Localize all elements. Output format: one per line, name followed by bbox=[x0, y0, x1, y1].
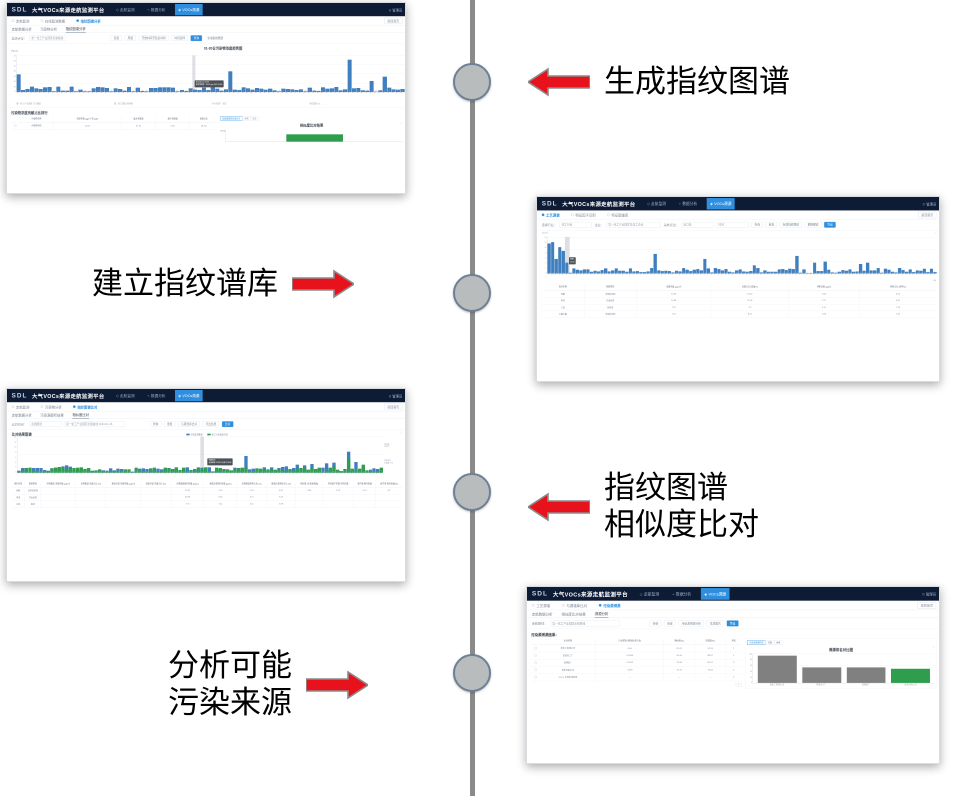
ranking-bar-0 bbox=[758, 656, 797, 683]
cell-0-0: 某化工有限公司 bbox=[540, 645, 596, 652]
tab-0[interactable]: 走航数据分析 bbox=[12, 27, 32, 33]
cell-4-3: — bbox=[695, 674, 726, 681]
tab-1[interactable]: 污染物分析 bbox=[40, 27, 57, 33]
components-plot: 丙酮 12.63 bbox=[547, 237, 936, 274]
cell-1-5: 6.02 bbox=[860, 297, 937, 304]
timeseries-plot: 2024-01-16 14:25 苯系物浓度：63.25 ppb 占比 18.4… bbox=[16, 55, 406, 92]
cell-0-4: 5.03 bbox=[789, 291, 860, 298]
filter-toolbar: 监测点位： 第一化工产业园区走航路线 日报 周报 开始时间至结束时间 时间选择 … bbox=[7, 33, 406, 44]
cell-0-3: 92.53 bbox=[695, 645, 726, 652]
extra-label bbox=[741, 621, 747, 626]
nav-icon: ◇ bbox=[116, 7, 119, 11]
ranking-x-tick-0: 某化工有限公司 bbox=[757, 683, 796, 686]
y-axis-unit: 占比(%) bbox=[542, 232, 548, 234]
nav-item-0[interactable]: ◇走航监测 bbox=[636, 588, 662, 600]
route-input[interactable]: 第一化工产业园区走航路线 bbox=[550, 620, 620, 626]
subnav-item-0[interactable]: 工艺源谱 bbox=[542, 212, 560, 217]
cell-2-11 bbox=[323, 501, 354, 508]
company-select[interactable]: 第一化工产业园区某化工企业 bbox=[606, 222, 661, 228]
ranking-plot bbox=[753, 653, 935, 683]
compare-time-label: 比对时间： bbox=[12, 422, 27, 426]
timeline-node-3 bbox=[453, 473, 491, 511]
daily-report-button[interactable]: 日报 bbox=[111, 35, 122, 41]
arrow-left-icon bbox=[528, 67, 590, 97]
cell-0-1: 12.63 bbox=[53, 122, 121, 129]
cell-2-8: 4.11 bbox=[237, 501, 266, 508]
main-nav: ◇走航监测 ⌁数据分析 ◈VOCs溯源 bbox=[644, 198, 735, 209]
query-button[interactable]: 查询 bbox=[191, 35, 202, 41]
pagination[interactable]: 1 bbox=[736, 683, 742, 686]
screenshot-card-4[interactable]: SDL 大气VOCs来源走航监测平台 ◇走航监测 ⌁数据分析 ◈VOCs溯源 ⊙… bbox=[526, 586, 940, 764]
cell-4-1: — bbox=[596, 674, 664, 681]
table-row[interactable]: 某某印刷公司0.91870.7476.344 bbox=[531, 666, 741, 673]
cell-3-1: 含氧有机物 bbox=[584, 311, 636, 318]
spectrum-select[interactable]: 走航图谱 bbox=[29, 421, 61, 427]
chart-legend: 走航监测图谱 化工行业源成分谱 bbox=[12, 433, 403, 436]
cell-1-2: 10.08 bbox=[636, 297, 711, 304]
chart-tooltip: 丙酮组分 走航图谱 12.63% 源谱 11.80% bbox=[207, 458, 232, 465]
nav-icon: ⌁ bbox=[672, 592, 674, 596]
cell-2-0: 乙烷 bbox=[12, 501, 25, 508]
x-tick-87: 组分88 bbox=[400, 89, 406, 95]
generate-fingerprint-button[interactable]: 生成指纹图谱 bbox=[205, 36, 226, 41]
cell-0-10: 0.96 bbox=[296, 487, 323, 494]
cell-1-5 bbox=[141, 494, 171, 501]
table-row[interactable]: 丙酮类物质12.6347.100.4518.4% bbox=[11, 122, 218, 129]
cell-0-1: 含氧有机物 bbox=[584, 291, 636, 298]
cell-2-13 bbox=[376, 501, 402, 508]
tab-bar: 走航数据分析 相似度比对结果 溯源分析 bbox=[527, 610, 940, 618]
main-nav: ◇走航监测 ⌁数据分析 ◈VOCs溯源 bbox=[113, 4, 203, 15]
export-button[interactable]: 导出 bbox=[824, 222, 835, 228]
back-home-button[interactable]: 返回首页 bbox=[384, 403, 402, 409]
chart-segmented-control[interactable]: 污染源溯源排名 柱图 表格 bbox=[747, 640, 935, 644]
sdl-logo: SDL bbox=[12, 6, 28, 13]
filter-toolbar: 比对时间： 走航图谱 第一化工产业园区走航路线 2024-01-16 查询 重置… bbox=[7, 419, 406, 430]
match-note: 特征因子 匹配度 87% bbox=[384, 459, 393, 464]
cell-3-3: 8.41 bbox=[711, 311, 788, 318]
expand-icon[interactable]: ⤢ bbox=[400, 122, 402, 125]
radio-icon bbox=[599, 604, 602, 607]
subnav-item-1[interactable]: 在线监测数据 bbox=[41, 18, 65, 23]
cell-0-2 bbox=[41, 487, 76, 494]
generate-report-button[interactable]: 生成报告 bbox=[707, 620, 724, 626]
cell-0-1: 含氧有机物 bbox=[25, 487, 41, 494]
cell-1-10 bbox=[296, 494, 323, 501]
cell-4-4: 5 bbox=[726, 674, 742, 681]
app-title: 大气VOCs来源走航监测平台 bbox=[32, 392, 105, 400]
cell-0-6: 12.63 bbox=[171, 487, 204, 494]
cell-0-2: 47.10 bbox=[121, 122, 155, 129]
radio-icon bbox=[76, 19, 79, 22]
cell-0-9: 4.87 bbox=[266, 487, 295, 494]
footer-label-3: 物流园区 S1 bbox=[310, 102, 406, 105]
industry-select[interactable]: 化工行业 bbox=[560, 222, 592, 228]
footer-label-2: 污水处理厂 北区 bbox=[212, 102, 308, 105]
nav-label: 走航监测 bbox=[120, 7, 135, 12]
tab-1[interactable]: 相似度比对结果 bbox=[562, 611, 586, 617]
row-select-checkbox[interactable] bbox=[531, 674, 540, 681]
cell-3-1: 0.918 bbox=[596, 666, 664, 673]
tab-0[interactable]: 走航数据分析 bbox=[532, 611, 553, 617]
radio-icon bbox=[562, 604, 565, 607]
tab-0[interactable]: 走航数据分析 bbox=[12, 413, 32, 419]
sample-point-select[interactable]: 出口处 bbox=[681, 222, 713, 228]
nav-item-2[interactable]: ◈VOCs溯源 bbox=[701, 588, 730, 600]
filter-toolbar: 走航路线： 第一化工产业园区走航路线 查询 重置 污染源溯源分析 生成报告 导出 bbox=[527, 618, 940, 629]
nav-item-2[interactable]: ◈VOCs溯源 bbox=[707, 198, 735, 209]
sdl-logo: SDL bbox=[12, 392, 28, 399]
expand-icon[interactable]: ⤢ bbox=[934, 232, 936, 235]
timeline-node-1 bbox=[453, 63, 491, 101]
cell-1-1: 芳香烃类 bbox=[25, 494, 41, 501]
timeline-node-4 bbox=[453, 654, 491, 692]
cell-3-5: 3.42 bbox=[860, 311, 937, 318]
nav-icon: ◈ bbox=[178, 393, 181, 397]
tab-1[interactable]: 污染源解析结果 bbox=[40, 413, 63, 419]
screenshot-card-1[interactable]: SDL 大气VOCs来源走航监测平台 ◇走航监测 ⌁数据分析 ◈VOCs溯源 ⊙… bbox=[6, 2, 406, 194]
table-row[interactable]: 甲苯芳香烃类10.0811.183.716.02 bbox=[542, 297, 937, 304]
sub-nav-bar: 工艺源谱 特征因子识别 特征图谱库 返回首页 bbox=[537, 210, 940, 219]
cell-4-0: VOCs 无组织排放源 bbox=[540, 674, 596, 681]
table-row[interactable]: 某橡胶厂0.916575.6880.973 bbox=[531, 659, 741, 666]
time-picker-button[interactable]: 时间选择 bbox=[171, 35, 188, 41]
arrow-left-icon bbox=[528, 492, 590, 522]
cell-1-9: 3.55 bbox=[266, 494, 295, 501]
cell-0-4 bbox=[106, 487, 141, 494]
seg-0[interactable]: 指纹图谱相似度比对 bbox=[220, 116, 242, 120]
annotation-analyze-source: 分析可能 污染来源 bbox=[168, 648, 368, 721]
nav-icon: ◈ bbox=[710, 202, 713, 206]
screenshot-card-3[interactable]: SDL 大气VOCs来源走航监测平台 ◇走航监测 ⌁数据分析 ◈VOCs溯源 ⊙… bbox=[6, 388, 406, 582]
subnav-item-2[interactable]: 特征图谱库 bbox=[607, 212, 628, 217]
weekly-report-button[interactable]: 周报 bbox=[125, 35, 136, 41]
cell-1-7: 9.46 bbox=[204, 494, 237, 501]
subnav-item-1[interactable]: 与源谱库比对 bbox=[562, 603, 587, 608]
cell-2-3: 80.97 bbox=[695, 659, 726, 666]
cell-3-2: 7.03 bbox=[636, 311, 711, 318]
cell-0-8: 5.03 bbox=[237, 487, 266, 494]
seg-2[interactable]: 历史 bbox=[250, 116, 258, 120]
cell-2-3: 7.9 bbox=[711, 304, 788, 311]
footer-label-1: 第二化工园区 西环路 bbox=[114, 102, 210, 105]
sample-point-label: 采样点位： bbox=[664, 223, 679, 227]
export-button[interactable]: 导出 bbox=[727, 620, 739, 626]
cell-2-1: 烷烃类 bbox=[584, 304, 636, 311]
export-result-button[interactable]: 导出结果 bbox=[203, 421, 220, 427]
table-row[interactable]: 乙烷烷烃类7.727.94.117.14 bbox=[542, 304, 937, 311]
date-range-button[interactable]: 开始时间至结束时间 bbox=[139, 35, 169, 41]
user-menu[interactable]: ⊙ 管理员 bbox=[922, 591, 936, 596]
filter-toolbar: 选择行业： 化工行业 企业： 第一化工产业园区某化工企业 采样点位： 出口处 时… bbox=[537, 220, 940, 231]
cell-2-5: 7.14 bbox=[860, 304, 937, 311]
cell-2-9: 3.98 bbox=[266, 501, 295, 508]
cell-0-3: 0.45 bbox=[156, 122, 190, 129]
cell-1-0: 甲苯 bbox=[12, 494, 25, 501]
subnav-item-1[interactable]: 污染物分析 bbox=[41, 404, 62, 409]
subnav-item-0[interactable]: 走航监测 bbox=[12, 18, 30, 23]
cell-0-3 bbox=[76, 487, 106, 494]
nav-icon: ◈ bbox=[178, 7, 181, 11]
ranking-table-panel: 污染物浓度贡献占比排行 污染物名称浓度均值 (μg/m³ 或 ppb)最大浓度值… bbox=[7, 107, 406, 145]
table-row[interactable]: 丙酮含氧有机物12.6313.425.038.15 bbox=[542, 291, 937, 298]
user-menu[interactable]: ⊙ 管理员 bbox=[922, 201, 936, 206]
components-table: 组分名称物质类别浓度均值 (μg/m³)浓度占比 (质量%)体积浓度 (ppbv… bbox=[542, 285, 937, 318]
time-select[interactable]: 时间 bbox=[716, 222, 748, 228]
nav-icon: ◇ bbox=[647, 202, 650, 206]
query-button[interactable]: 查询 bbox=[150, 421, 161, 427]
cell-0-2: 87.41 bbox=[664, 645, 695, 652]
similarity-note: 相似度 0.8621 bbox=[384, 443, 389, 447]
app-header-bar: SDL 大气VOCs来源走航监测平台 ◇走航监测 ⌁数据分析 ◈VOCs溯源 ⊙… bbox=[527, 587, 940, 601]
tab-bar: 走航数据分析 污染物分析 指纹图谱分析 bbox=[7, 25, 406, 33]
cell-3-2: 70.74 bbox=[664, 666, 695, 673]
table-row[interactable]: 甲苯芳香烃类10.089.463.713.55 bbox=[12, 494, 403, 501]
cell-1-1: 芳香烃类 bbox=[584, 297, 636, 304]
main-chart-panel: 01-30日污染物浓度趋势图 浓度(ppb) ⤢ 70 60 50 40 30 … bbox=[11, 46, 406, 105]
table-row[interactable]: 某化工有限公司0.9687.4192.531 bbox=[531, 645, 741, 652]
add-fingerprint-button[interactable]: 新增指纹图谱 bbox=[780, 222, 802, 228]
tab-2[interactable]: 指纹图谱分析 bbox=[66, 26, 86, 33]
nav-item-0[interactable]: ◇走航监测 bbox=[113, 4, 138, 15]
cell-0-7: 11.8 bbox=[204, 487, 237, 494]
cell-0-5 bbox=[141, 487, 171, 494]
cell-0-0: 丙酮 bbox=[12, 487, 25, 494]
chart-tooltip: 丙酮 12.63 bbox=[569, 257, 576, 264]
table-row[interactable]: 乙烷烷烃7.727.114.113.98 bbox=[12, 501, 403, 508]
compare-chart-panel: 比对结果图谱 ⤢ 走航监测图谱 化工行业源成分谱 14 12 10 8 6 4 … bbox=[7, 430, 406, 482]
screenshot-card-2[interactable]: SDL 大气VOCs来源走航监测平台 ◇走航监测 ⌁数据分析 ◈VOCs溯源 ⊙… bbox=[536, 196, 940, 382]
cell-1-0: 甲苯 bbox=[542, 297, 584, 304]
subnav-item-1[interactable]: 特征因子识别 bbox=[571, 212, 596, 217]
nav-icon: ◇ bbox=[640, 592, 643, 596]
cell-2-6: 7.72 bbox=[171, 501, 204, 508]
nav-icon: ⌁ bbox=[147, 393, 149, 397]
row-select-checkbox[interactable] bbox=[531, 645, 540, 652]
nav-item-2[interactable]: ◈VOCs溯源 bbox=[175, 390, 203, 401]
components-chart-panel: 占比(%) ⤢ 14 12 10 8 6 4 2 0 bbox=[537, 230, 940, 284]
cell-1-2: 81.44 bbox=[664, 652, 695, 659]
poster-canvas: 生成指纹图谱 建立指纹谱库 指纹图谱 相似度比对 分析可能 污染来源 SDL 大… bbox=[0, 0, 968, 796]
cell-1-3: 11.18 bbox=[711, 297, 788, 304]
cell-0-5: 8.15 bbox=[860, 291, 937, 298]
ranking-x-tick-2: 某橡胶厂 bbox=[846, 683, 885, 686]
radio-icon bbox=[542, 213, 545, 216]
cell-3-0: 乙酸乙酯 bbox=[542, 311, 584, 318]
nav-icon: ⌁ bbox=[147, 7, 149, 11]
sub-nav-bar: 走航监测 在线监测数据 指纹图谱分析 返回首页 bbox=[7, 16, 406, 25]
row-select-checkbox[interactable] bbox=[11, 122, 20, 129]
nav-icon: ◈ bbox=[704, 592, 707, 596]
sdl-logo: SDL bbox=[532, 590, 548, 598]
ranking-x-tick-3: 某某印刷公司 bbox=[891, 683, 930, 686]
nav-item-0[interactable]: ◇走航监测 bbox=[644, 198, 670, 209]
cell-0-0: 丙酮 bbox=[542, 291, 584, 298]
subnav-item-0[interactable]: 走航监测 bbox=[12, 404, 30, 409]
annotation-text: 分析可能 污染来源 bbox=[168, 648, 292, 721]
app-title: 大气VOCs来源走航监测平台 bbox=[553, 590, 628, 598]
mini-bar-0 bbox=[286, 134, 343, 141]
x-axis-unit: 组分 bbox=[542, 279, 937, 281]
cell-3-0: 某某印刷公司 bbox=[540, 666, 596, 673]
cell-1-4: 3.71 bbox=[789, 297, 860, 304]
app-title: 大气VOCs来源走航监测平台 bbox=[562, 200, 635, 208]
table-row[interactable]: 丙酮含氧有机物12.6311.85.034.870.961.030.916.1 bbox=[12, 487, 403, 494]
cell-0-2: 12.63 bbox=[636, 291, 711, 298]
compare-button[interactable]: 比对 bbox=[222, 421, 233, 427]
back-home-button[interactable]: 返回首页 bbox=[384, 17, 402, 23]
bar-chart-title: 溯源排名对比图 bbox=[747, 647, 935, 652]
cell-2-2 bbox=[41, 501, 76, 508]
nav-item-1[interactable]: ⌁数据分析 bbox=[144, 390, 169, 401]
radio-icon bbox=[532, 604, 535, 607]
route-input[interactable]: 第一化工产业园区走航路线 bbox=[29, 35, 65, 41]
cell-2-4 bbox=[106, 501, 141, 508]
reset-button[interactable]: 重置 bbox=[664, 620, 676, 626]
row-select-checkbox[interactable] bbox=[531, 652, 540, 659]
cell-1-0: 某某化工厂 bbox=[540, 652, 596, 659]
radio-icon bbox=[73, 405, 76, 408]
table-row[interactable]: 某某化工厂0.934481.4488.072 bbox=[531, 652, 741, 659]
tab-2[interactable]: 溯源分析 bbox=[595, 611, 609, 618]
bar-88 bbox=[405, 82, 406, 92]
nav-item-0[interactable]: ◇走航监测 bbox=[113, 390, 138, 401]
cell-1-8: 3.71 bbox=[237, 494, 266, 501]
cell-3-3: 76.34 bbox=[695, 666, 726, 673]
cell-0-13: 6.1 bbox=[376, 487, 402, 494]
table-row[interactable]: 乙酸乙酯含氧有机物7.038.412.093.42 bbox=[542, 311, 937, 318]
query-button[interactable]: 查询 bbox=[649, 620, 661, 626]
user-menu[interactable]: ⊙ 管理员 bbox=[389, 393, 403, 398]
main-nav: ◇走航监测 ⌁数据分析 ◈VOCs溯源 bbox=[113, 390, 203, 401]
delete-fingerprint-button[interactable]: 删除图谱 bbox=[805, 222, 822, 228]
cell-2-12 bbox=[353, 501, 375, 508]
seg-0[interactable]: 污染源溯源排名 bbox=[747, 640, 766, 644]
cell-1-3: 88.07 bbox=[695, 652, 726, 659]
sub-nav-bar: 工艺源谱 与源谱库比对 污染源溯源 返回首页 bbox=[527, 601, 940, 610]
cell-1-11 bbox=[323, 494, 354, 501]
y-axis-unit: 浓度(ppb) bbox=[11, 50, 18, 52]
expand-icon[interactable]: ⤢ bbox=[400, 432, 402, 435]
seg-1[interactable]: 柱图 bbox=[766, 640, 774, 644]
trace-table: 企业名称行业类别 (国民经济行业)相似度(%)匹配度(%)排名 某化工有限公司0… bbox=[531, 638, 741, 681]
mini-plot bbox=[226, 130, 403, 142]
arrow-right-icon bbox=[306, 670, 368, 700]
ranking-x-tick-1: 某某化工厂 bbox=[802, 683, 841, 686]
subnav-item-2[interactable]: 指纹图谱分析 bbox=[76, 18, 100, 23]
ranking-bar-chart: 污染源溯源排名 柱图 表格 溯源排名对比图 ⤢ 100 80 60 40 bbox=[745, 638, 937, 688]
reset-button[interactable]: 重置 bbox=[164, 421, 175, 427]
row-select-checkbox[interactable] bbox=[531, 666, 540, 673]
compare-plot: 丙酮组分 走航图谱 12.63% 源谱 11.80% bbox=[17, 437, 383, 473]
annotation-text: 指纹图谱 相似度比对 bbox=[604, 470, 759, 543]
subnav-item-2[interactable]: 指纹图谱比对 bbox=[73, 404, 97, 409]
back-home-button[interactable]: 返回首页 bbox=[918, 212, 936, 218]
arrow-right-icon bbox=[292, 269, 354, 299]
cell-2-1: 0.9165 bbox=[596, 659, 664, 666]
trace-analysis-button[interactable]: 污染源溯源分析 bbox=[678, 620, 704, 626]
row-select-checkbox[interactable] bbox=[531, 659, 540, 666]
footer-label-0: 第一化工产业园区 东门路段 bbox=[16, 102, 112, 105]
radio-icon bbox=[571, 213, 574, 216]
annotation-text: 建立指纹谱库 bbox=[92, 266, 278, 303]
subnav-item-0[interactable]: 工艺源谱 bbox=[532, 603, 550, 608]
nav-label: VOCs溯源 bbox=[182, 7, 199, 12]
cell-4-2: — bbox=[664, 674, 695, 681]
compare-table: 组分名称物质类别走航图谱 浓度均值 (μg/m³)走航图谱 浓度占比 (%)源成… bbox=[12, 481, 403, 507]
sdl-logo: SDL bbox=[542, 200, 558, 207]
company-label: 企业： bbox=[595, 223, 604, 227]
cell-2-4: 4.11 bbox=[789, 304, 860, 311]
cell-2-1: 烷烃 bbox=[25, 501, 41, 508]
seg-2[interactable]: 表格 bbox=[774, 640, 782, 644]
cell-3-4: 2.09 bbox=[789, 311, 860, 318]
industry-label: 选择行业： bbox=[542, 223, 557, 227]
cell-2-0: 乙烷 bbox=[542, 304, 584, 311]
radio-icon bbox=[41, 19, 44, 22]
ranking-bar-2 bbox=[847, 667, 886, 682]
nav-item-1[interactable]: ⌁数据分析 bbox=[675, 198, 700, 209]
radio-icon bbox=[41, 405, 44, 408]
cell-0-4: 18.4% bbox=[190, 122, 218, 129]
mini-chart-segmented-control[interactable]: 指纹图谱相似度比对 近期 历史 bbox=[220, 116, 403, 120]
cell-0-1: 0.96 bbox=[596, 645, 664, 652]
seg-1[interactable]: 近期 bbox=[242, 116, 250, 120]
ranking-table: 污染物名称浓度均值 (μg/m³ 或 ppb)最大浓度值最小浓度值贡献占比 丙酮… bbox=[11, 116, 218, 129]
cell-0-4: 1 bbox=[726, 645, 742, 652]
route-select[interactable]: 第一化工产业园区走航路线 2024-01-16 bbox=[64, 421, 125, 427]
annotation-text: 生成指纹图谱 bbox=[604, 64, 790, 101]
annotation-similarity-compare: 指纹图谱 相似度比对 bbox=[528, 470, 759, 543]
expand-icon[interactable]: ⤢ bbox=[933, 646, 935, 649]
bar-75 bbox=[347, 60, 351, 92]
nav-item-2[interactable]: ◈VOCs溯源 bbox=[175, 4, 203, 15]
app-title: 大气VOCs来源走航监测平台 bbox=[32, 6, 105, 14]
app-header-bar: SDL 大气VOCs来源走航监测平台 ◇走航监测 ⌁数据分析 ◈VOCs溯源 ⊙… bbox=[537, 197, 940, 210]
tab-bar: 走航数据分析 污染源解析结果 相似度比对 bbox=[7, 411, 406, 419]
cell-1-2 bbox=[41, 494, 76, 501]
legend-item-0: 走航监测图谱 bbox=[186, 433, 202, 436]
reset-button[interactable]: 重置 bbox=[766, 222, 777, 228]
cell-2-4: 3 bbox=[726, 659, 742, 666]
cell-1-4 bbox=[106, 494, 141, 501]
mini-chart-title: 相似度比对结果 bbox=[220, 123, 403, 128]
compare-library-button[interactable]: 与源谱库比对 bbox=[178, 421, 200, 427]
chart-tooltip: 2024-01-16 14:25 苯系物浓度：63.25 ppb 占比 18.4… bbox=[195, 80, 224, 87]
radio-icon bbox=[12, 405, 15, 408]
nav-item-1[interactable]: ⌁数据分析 bbox=[144, 4, 169, 15]
cell-1-12 bbox=[353, 494, 375, 501]
back-home-button[interactable]: 返回首页 bbox=[918, 602, 937, 609]
table-title: 污染源溯源结果： bbox=[531, 632, 937, 637]
table-row[interactable]: VOCs 无组织排放源———5 bbox=[531, 674, 741, 681]
subnav-item-2[interactable]: 污染源溯源 bbox=[599, 603, 621, 608]
radio-icon bbox=[12, 19, 15, 22]
cell-2-2: 7.72 bbox=[636, 304, 711, 311]
annotation-build-library: 建立指纹谱库 bbox=[92, 266, 354, 303]
tab-2[interactable]: 相似度比对 bbox=[72, 412, 89, 419]
trace-result-panel: 污染源溯源结果： 企业名称行业类别 (国民经济行业)相似度(%)匹配度(%)排名… bbox=[527, 629, 940, 691]
nav-icon: ⌁ bbox=[679, 202, 681, 206]
ranking-bar-3 bbox=[891, 669, 930, 683]
radio-icon bbox=[607, 213, 610, 216]
user-menu[interactable]: ⊙ 管理员 bbox=[389, 7, 403, 12]
app-header-bar: SDL 大气VOCs来源走航监测平台 ◇走航监测 ⌁数据分析 ◈VOCs溯源 ⊙… bbox=[7, 389, 406, 402]
query-button[interactable]: 查询 bbox=[751, 222, 762, 228]
cell-2-3 bbox=[76, 501, 106, 508]
nav-item-1[interactable]: ⌁数据分析 bbox=[669, 588, 695, 600]
cell-1-6: 10.08 bbox=[171, 494, 204, 501]
